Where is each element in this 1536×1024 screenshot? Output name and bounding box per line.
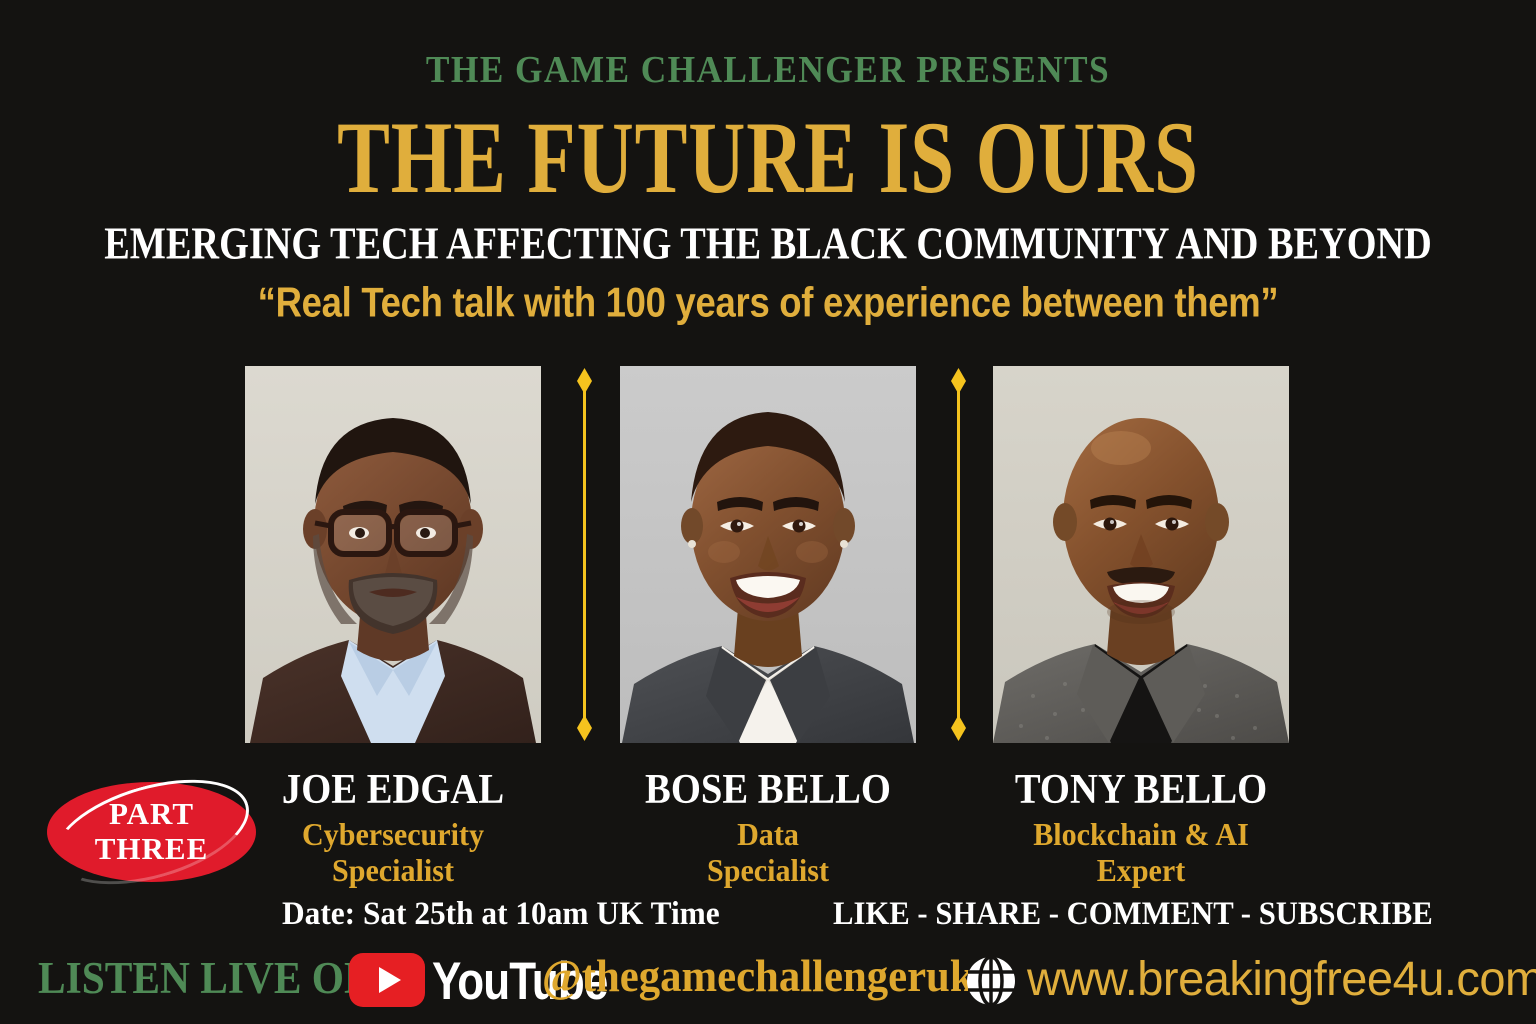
- speaker-photo-tony-bello: [993, 366, 1289, 743]
- speaker-role-line-2: Specialist: [613, 853, 923, 889]
- diamond-icon: [951, 715, 966, 741]
- speaker-role: Blockchain & AI Expert: [986, 817, 1296, 889]
- headshot-illustration: [245, 366, 541, 743]
- page-subtitle: EMERGING TECH AFFECTING THE BLACK COMMUN…: [100, 217, 1436, 270]
- page-title: THE FUTURE IS OURS: [108, 106, 1429, 209]
- globe-glyph: [963, 953, 1019, 1009]
- headshot-illustration: [993, 366, 1289, 743]
- speaker-role: Data Specialist: [613, 817, 923, 889]
- speaker-name: JOE EDGAL: [241, 768, 545, 813]
- website-url[interactable]: www.breakingfree4u.com: [1027, 950, 1536, 1006]
- status-badge-part-three: PART THREE: [47, 782, 256, 882]
- divider-line: [957, 380, 960, 729]
- engagement-cta: LIKE - SHARE - COMMENT - SUBSCRIBE: [833, 896, 1433, 933]
- speaker-role: Cybersecurity Specialist: [238, 817, 548, 889]
- headshot-illustration: [620, 366, 916, 743]
- badge-label: PART THREE: [47, 782, 256, 882]
- speaker-photo-bose-bello: [620, 366, 916, 743]
- speaker-role-line-1: Cybersecurity: [238, 817, 548, 853]
- youtube-handle[interactable]: @thegamechallengeruk: [542, 950, 974, 1002]
- play-triangle-icon: [379, 967, 401, 993]
- speaker-caption: JOE EDGAL Cybersecurity Specialist: [228, 768, 558, 889]
- divider-line: [583, 380, 586, 729]
- speaker-role-line-2: Specialist: [238, 853, 548, 889]
- listen-live-label: LISTEN LIVE ON: [38, 952, 374, 1004]
- event-flyer: THE GAME CHALLENGER PRESENTS THE FUTURE …: [0, 0, 1536, 1024]
- globe-icon: [963, 953, 1019, 1009]
- speaker-name: TONY BELLO: [989, 768, 1293, 813]
- tagline-quote: “Real Tech talk with 100 years of experi…: [31, 280, 1506, 327]
- speaker-photo-joe-edgal: [245, 366, 541, 743]
- divider-ornament-1: [573, 366, 595, 743]
- diamond-icon: [577, 715, 592, 741]
- youtube-play-icon[interactable]: [349, 953, 425, 1007]
- speaker-caption: TONY BELLO Blockchain & AI Expert: [976, 768, 1306, 889]
- speaker-caption: BOSE BELLO Data Specialist: [603, 768, 933, 889]
- speaker-name: BOSE BELLO: [616, 768, 920, 813]
- speaker-role-line-2: Expert: [986, 853, 1296, 889]
- speaker-role-line-1: Data: [613, 817, 923, 853]
- badge-label-line-2: THREE: [95, 832, 209, 867]
- badge-label-line-1: PART: [109, 797, 194, 832]
- divider-ornament-2: [947, 366, 969, 743]
- speaker-role-line-1: Blockchain & AI: [986, 817, 1296, 853]
- presenter-line: THE GAME CHALLENGER PRESENTS: [54, 48, 1482, 92]
- event-date: Date: Sat 25th at 10am UK Time: [282, 896, 720, 933]
